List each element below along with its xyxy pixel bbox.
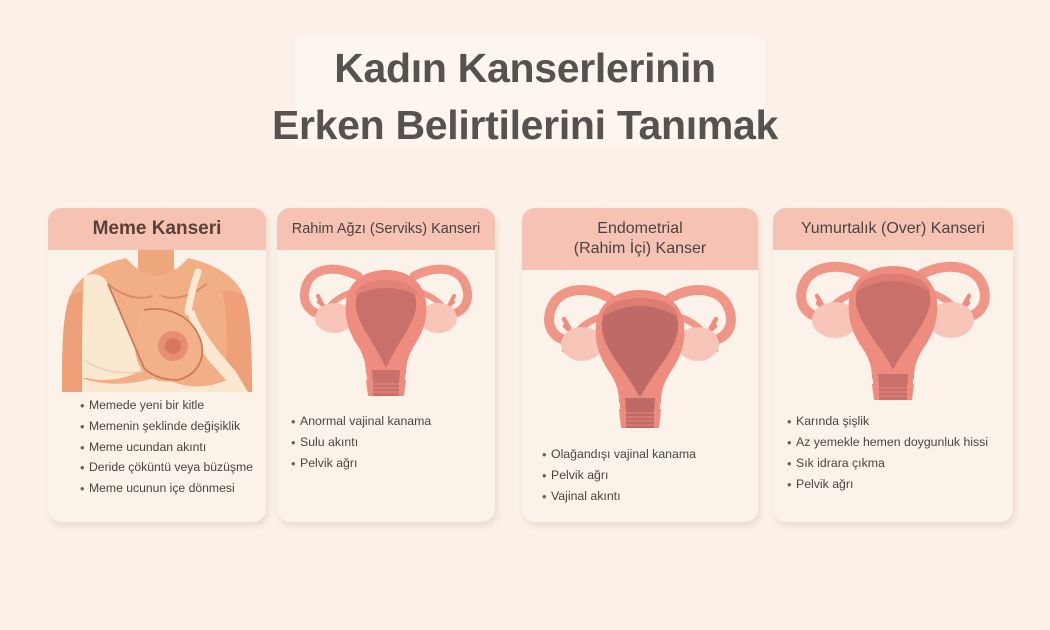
symptom-text: Deride çöküntü veya büzüşme [89,458,256,478]
uterus-endometrium-illustration [522,270,758,435]
list-item: • Pelvik ağrı [542,466,748,486]
card-meme-kanseri[interactable]: Meme Kanseri [48,208,266,522]
bullet-icon: • [291,412,300,432]
symptom-list-yumurtalik-over-kanseri: • Karında şişlik • Az yemekle hemen doyg… [773,400,1013,522]
bullet-icon: • [542,466,551,486]
symptom-list-meme-kanseri: • Memede yeni bir kitle • Memenin şeklin… [48,392,266,522]
symptom-text: Meme ucundan akıntı [89,438,256,458]
list-item: • Sık idrara çıkma [787,454,1003,474]
symptom-text: Meme ucunun içe dönmesi [89,479,256,499]
symptom-text: Az yemekle hemen doygunluk hissi [796,433,1003,453]
page-title: Kadın Kanserlerinin Erken Belirtilerini … [0,40,1050,153]
card-yumurtalik-over-kanseri[interactable]: Yumurtalık (Over) Kanseri [773,208,1013,522]
bullet-icon: • [80,458,89,478]
symptom-text: Pelvik ağrı [551,466,748,486]
bullet-icon: • [787,433,796,453]
bullet-icon: • [542,445,551,465]
list-item: • Deride çöküntü veya büzüşme [64,458,256,478]
symptom-text: Sık idrara çıkma [796,454,1003,474]
card-title-endometrial-rahim-ici-kanser: Endometrial (Rahim İçi) Kanser [522,208,758,270]
breast-self-exam-illustration [48,250,266,392]
bullet-icon: • [542,487,551,507]
cancer-cards-container: Meme Kanseri [0,208,1050,528]
list-item: • Memenin şeklinde değişiklik [64,417,256,437]
bullet-icon: • [80,396,89,416]
bullet-icon: • [787,475,796,495]
symptom-text: Pelvik ağrı [300,454,485,474]
list-item: • Pelvik ağrı [787,475,1003,495]
uterus-anatomy-illustration [277,250,495,400]
list-item: • Anormal vajinal kanama [291,412,485,432]
bullet-icon: • [80,479,89,499]
list-item: • Pelvik ağrı [291,454,485,474]
list-item: • Az yemekle hemen doygunluk hissi [787,433,1003,453]
list-item: • Karında şişlik [787,412,1003,432]
bullet-icon: • [787,412,796,432]
bullet-icon: • [787,454,796,474]
uterus-ovary-illustration [773,250,1013,400]
card-title-meme-kanseri: Meme Kanseri [48,208,266,250]
list-item: • Sulu akıntı [291,433,485,453]
symptom-text: Sulu akıntı [300,433,485,453]
symptom-text: Pelvik ağrı [796,475,1003,495]
bullet-icon: • [80,417,89,437]
list-item: • Vajinal akıntı [542,487,748,507]
symptom-text: Memenin şeklinde değişiklik [89,417,256,437]
symptom-text: Olağandışı vajinal kanama [551,445,748,465]
page-title-line-1: Kadın Kanserlerinin [334,45,716,91]
card-title-rahim-agzi-serviks-kanseri: Rahim Ağzı (Serviks) Kanseri [277,208,495,250]
card-title-line-1: Endometrial [597,220,682,237]
bullet-icon: • [291,454,300,474]
bullet-icon: • [80,438,89,458]
symptom-list-endometrial-rahim-ici-kanser: • Olağandışı vajinal kanama • Pelvik ağr… [522,435,758,522]
card-endometrial-rahim-ici-kanser[interactable]: Endometrial (Rahim İçi) Kanser [522,208,758,522]
symptom-text: Karında şişlik [796,412,1003,432]
page-title-line-2: Erken Belirtilerini Tanımak [0,97,1050,154]
bullet-icon: • [291,433,300,453]
symptom-list-rahim-agzi-serviks-kanseri: • Anormal vajinal kanama • Sulu akıntı •… [277,400,495,522]
list-item: • Memede yeni bir kitle [64,396,256,416]
card-title-yumurtalik-over-kanseri: Yumurtalık (Over) Kanseri [773,208,1013,250]
symptom-text: Vajinal akıntı [551,487,748,507]
list-item: • Meme ucundan akıntı [64,438,256,458]
card-title-line-2: (Rahim İçi) Kanser [574,240,706,257]
symptom-text: Anormal vajinal kanama [300,412,485,432]
list-item: • Meme ucunun içe dönmesi [64,479,256,499]
card-rahim-agzi-serviks-kanseri[interactable]: Rahim Ağzı (Serviks) Kanseri [277,208,495,522]
symptom-text: Memede yeni bir kitle [89,396,256,416]
list-item: • Olağandışı vajinal kanama [542,445,748,465]
